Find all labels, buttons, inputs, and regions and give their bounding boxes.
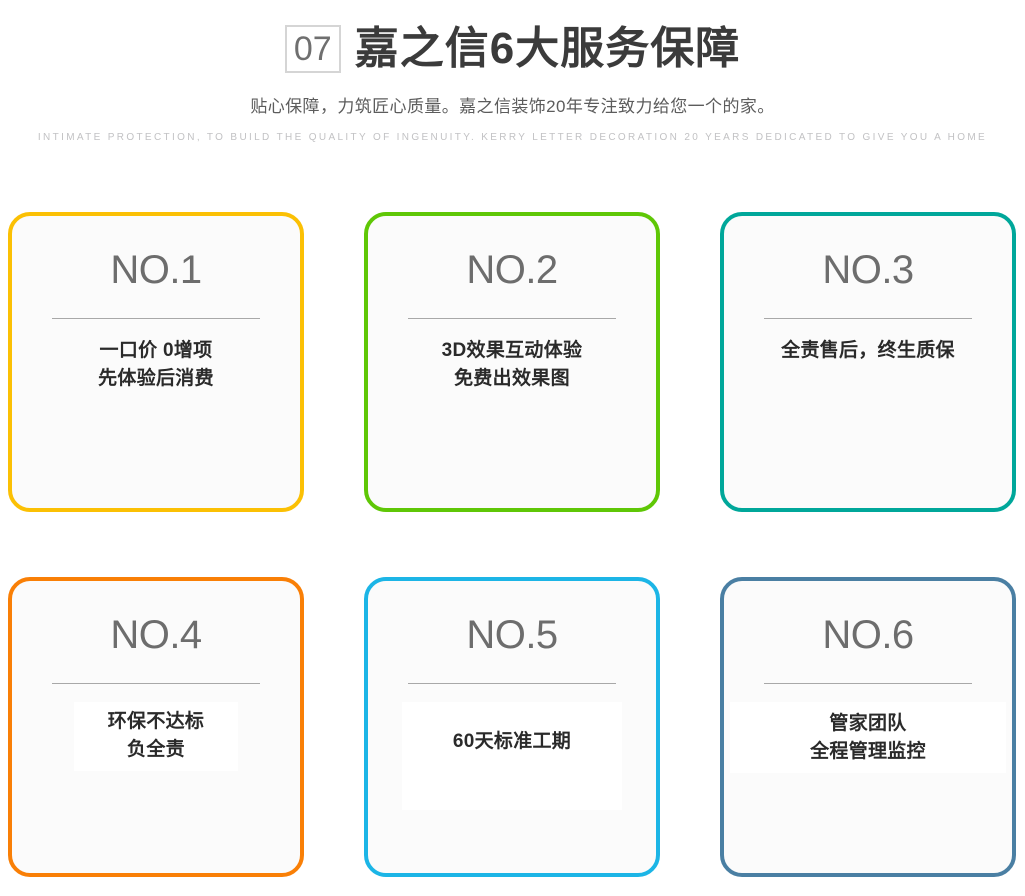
- card-number: NO.4: [110, 615, 201, 655]
- subtitle-english: INTIMATE PROTECTION, TO BUILD THE QUALIT…: [0, 132, 1025, 144]
- card-description: 全责售后，终生质保: [775, 337, 961, 365]
- card-content: NO.2 3D效果互动体验免费出效果图: [368, 250, 656, 392]
- service-card-2[interactable]: NO.2 3D效果互动体验免费出效果图: [364, 212, 660, 512]
- card-text-wrap: 一口价 0增项先体验后消费: [12, 337, 300, 392]
- service-card-grid: NO.1 一口价 0增项先体验后消费 NO.2 3D效果互动体验免费出效果图 N…: [8, 212, 1017, 877]
- service-card-3[interactable]: NO.3 全责售后，终生质保: [720, 212, 1016, 512]
- card-description: 一口价 0增项先体验后消费: [92, 337, 220, 392]
- card-content: NO.6 管家团队全程管理监控: [724, 615, 1012, 773]
- service-card-4[interactable]: NO.4 环保不达标负全责: [8, 577, 304, 877]
- service-card-5[interactable]: NO.5 60天标准工期: [364, 577, 660, 877]
- page-title: 嘉之信6大服务保障: [355, 27, 740, 71]
- card-description: 环保不达标负全责: [74, 702, 239, 771]
- card-content: NO.1 一口价 0增项先体验后消费: [12, 250, 300, 392]
- card-text-wrap: 全责售后，终生质保: [724, 337, 1012, 365]
- card-description: 3D效果互动体验免费出效果图: [436, 337, 589, 392]
- card-content: NO.3 全责售后，终生质保: [724, 250, 1012, 365]
- card-divider: [764, 683, 972, 684]
- card-divider: [408, 318, 616, 319]
- service-card-1[interactable]: NO.1 一口价 0增项先体验后消费: [8, 212, 304, 512]
- card-content: NO.4 环保不达标负全责: [12, 615, 300, 771]
- subtitle-chinese: 贴心保障，力筑匠心质量。嘉之信装饰20年专注致力给您一个的家。: [0, 97, 1025, 117]
- section-number-badge: 07: [285, 25, 341, 73]
- card-content: NO.5 60天标准工期: [368, 615, 656, 810]
- card-description: 管家团队全程管理监控: [730, 702, 1006, 773]
- page-header: 07 嘉之信6大服务保障 贴心保障，力筑匠心质量。嘉之信装饰20年专注致力给您一…: [0, 0, 1025, 144]
- card-text-wrap: 环保不达标负全责: [12, 702, 300, 771]
- card-description: 60天标准工期: [402, 702, 622, 810]
- card-number: NO.5: [466, 615, 557, 655]
- card-number: NO.3: [822, 250, 913, 290]
- card-text-wrap: 60天标准工期: [368, 702, 656, 810]
- card-number: NO.2: [466, 250, 557, 290]
- card-divider: [764, 318, 972, 319]
- card-divider: [52, 318, 260, 319]
- card-text-wrap: 管家团队全程管理监控: [724, 702, 1012, 773]
- service-card-6[interactable]: NO.6 管家团队全程管理监控: [720, 577, 1016, 877]
- card-text-wrap: 3D效果互动体验免费出效果图: [368, 337, 656, 392]
- card-number: NO.6: [822, 615, 913, 655]
- card-divider: [408, 683, 616, 684]
- title-row: 07 嘉之信6大服务保障: [0, 18, 1025, 80]
- card-divider: [52, 683, 260, 684]
- card-number: NO.1: [110, 250, 201, 290]
